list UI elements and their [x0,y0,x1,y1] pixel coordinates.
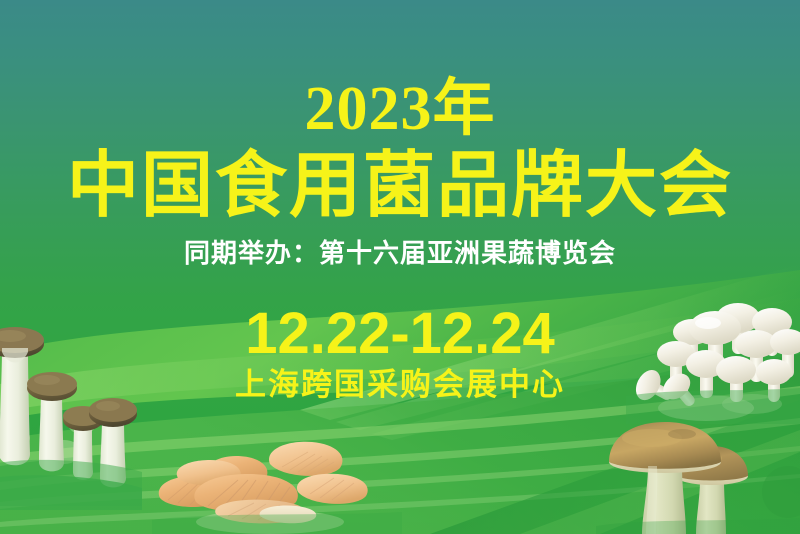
event-poster: 2023年 中国食用菌品牌大会 同期举办：第十六届亚洲果蔬博览会 12.22-1… [0,0,800,534]
event-venue: 上海跨国采购会展中心 [0,369,800,400]
poster-text-block: 2023年 中国食用菌品牌大会 同期举办：第十六届亚洲果蔬博览会 12.22-1… [0,0,800,534]
event-subtitle: 同期举办：第十六届亚洲果蔬博览会 [0,238,800,269]
page-title: 中国食用菌品牌大会 [0,150,800,222]
event-year: 2023年 [0,78,800,140]
event-dates: 12.22-12.24 [0,305,800,363]
